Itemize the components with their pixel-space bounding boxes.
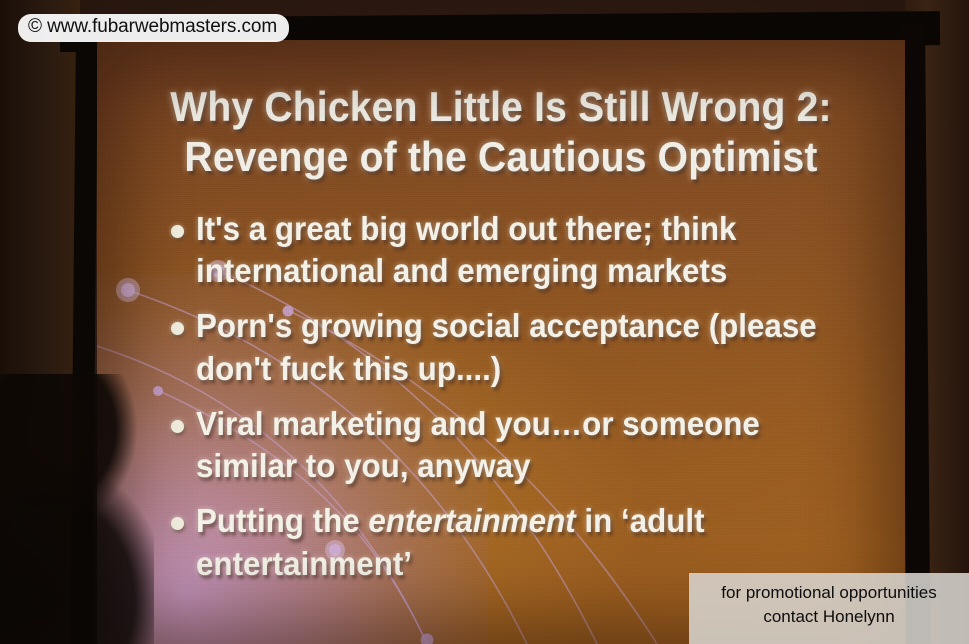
bullet-point-icon	[171, 322, 184, 335]
promo-line-1: for promotional opportunities	[689, 581, 969, 605]
slide-content: Why Chicken Little Is Still Wrong 2: Rev…	[97, 40, 905, 644]
slide-bullet-item: Viral marketing and you…or someone simil…	[171, 403, 891, 487]
slide-bullet-text: It's a great big world out there; think …	[196, 208, 856, 292]
bullet-point-icon	[171, 420, 184, 433]
slide-bullet-text: Porn's growing social acceptance (please…	[196, 305, 856, 389]
slide-bullet-item: Porn's growing social acceptance (please…	[171, 305, 891, 389]
promotional-overlay: for promotional opportunities contact Ho…	[689, 573, 969, 644]
slide-title: Why Chicken Little Is Still Wrong 2: Rev…	[125, 82, 876, 181]
copyright-watermark: © www.fubarwebmasters.com	[18, 14, 289, 42]
room-wall-left	[0, 0, 80, 644]
slide-bullet-item: It's a great big world out there; think …	[171, 208, 891, 292]
slide-title-line-2: Revenge of the Cautious Optimist	[125, 132, 876, 182]
slide-bullet-list: It's a great big world out there; think …	[171, 208, 891, 598]
conference-photo: Why Chicken Little Is Still Wrong 2: Rev…	[0, 0, 969, 644]
bullet-text-prefix: Putting the	[196, 502, 368, 539]
slide-title-line-1: Why Chicken Little Is Still Wrong 2:	[125, 82, 876, 132]
bullet-point-icon	[171, 225, 184, 238]
bullet-point-icon	[171, 517, 184, 530]
projected-slide: Why Chicken Little Is Still Wrong 2: Rev…	[97, 40, 905, 644]
promo-line-2: contact Honelynn	[689, 605, 969, 629]
bullet-text-emphasis: entertainment	[368, 502, 575, 539]
slide-bullet-text: Viral marketing and you…or someone simil…	[196, 403, 856, 487]
